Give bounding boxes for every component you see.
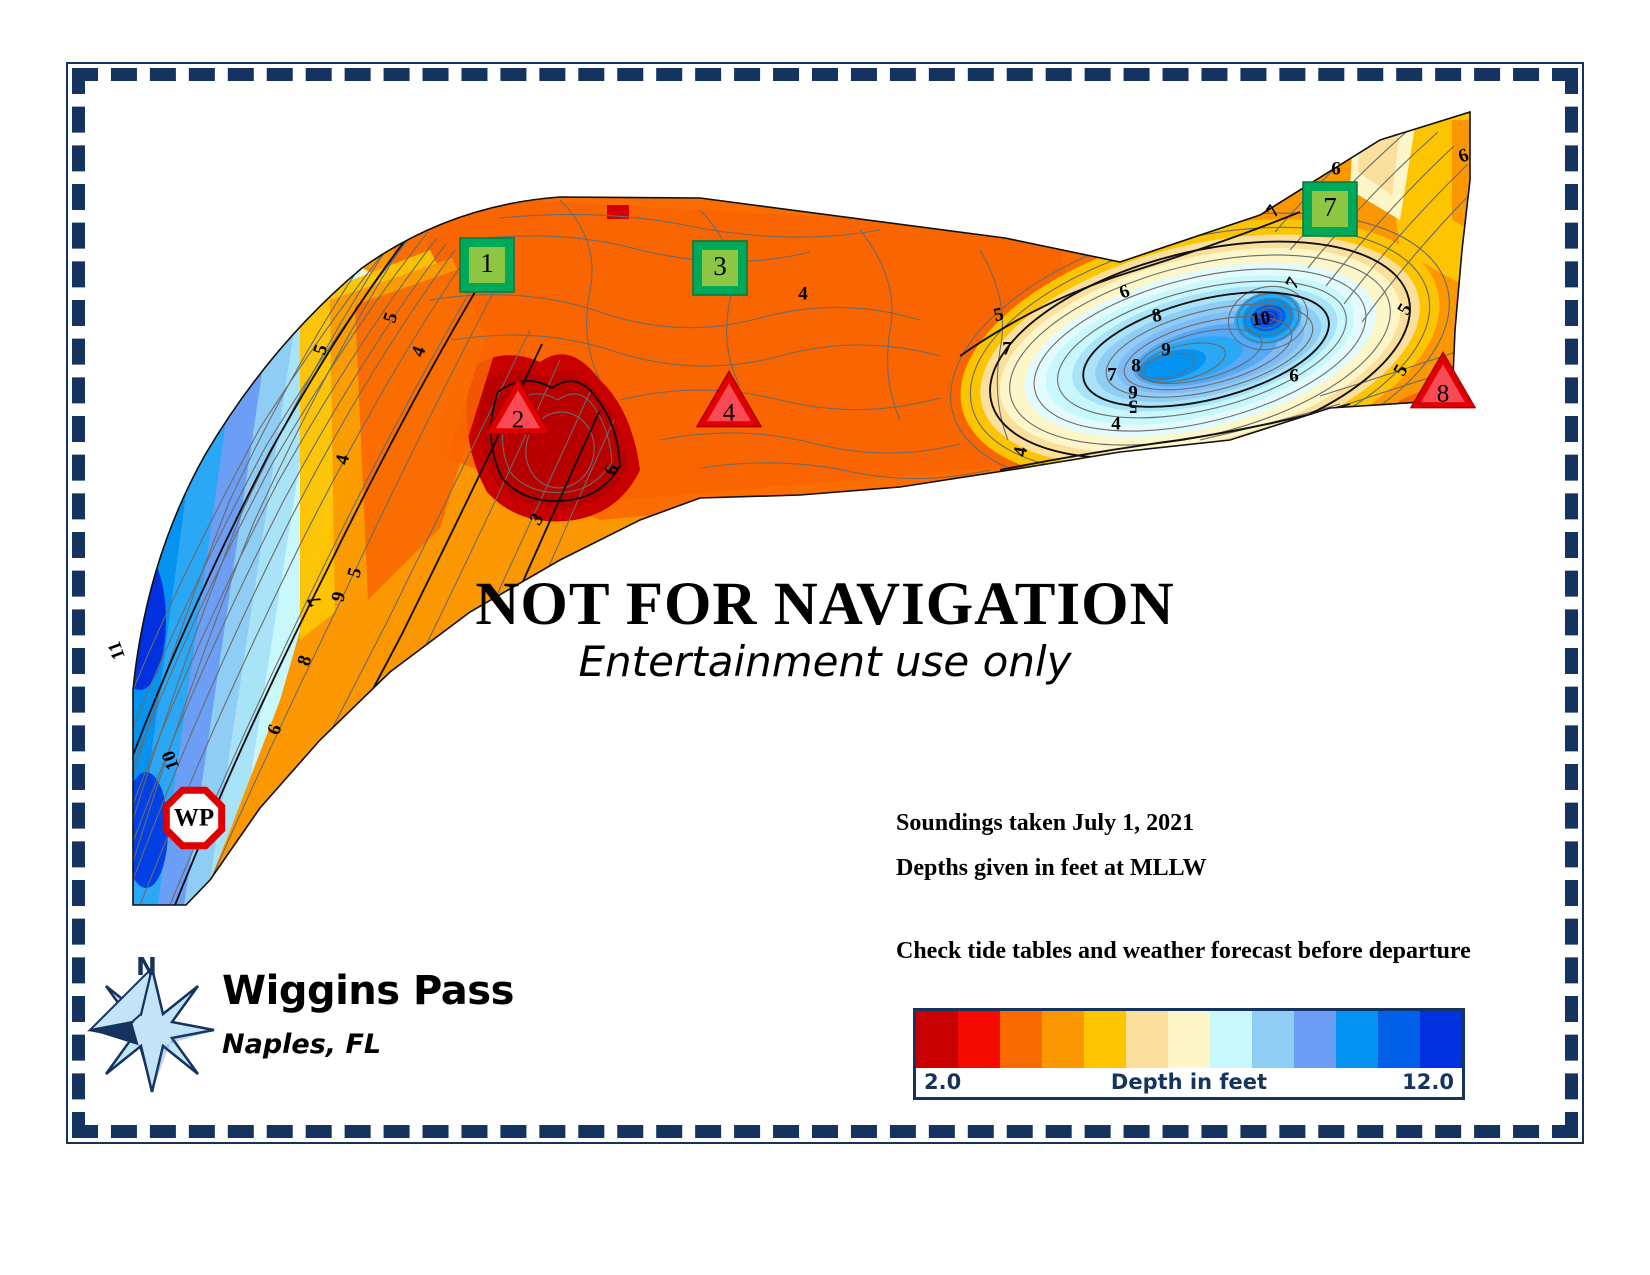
legend-swatch: [1126, 1011, 1168, 1068]
legend-swatch: [1042, 1011, 1084, 1068]
marker-label: 1: [480, 248, 494, 278]
contour-depth-label: 4: [1111, 413, 1121, 434]
legend-min-label: 2.0: [924, 1070, 961, 1094]
warning-subtitle: Entertainment use only: [0, 637, 1650, 686]
depth-color-legend: 2.0 Depth in feet 12.0: [913, 1008, 1465, 1100]
legend-title-label: Depth in feet: [1111, 1070, 1267, 1094]
contour-depth-label: 6: [1331, 158, 1341, 179]
contour-depth-label: 7: [1107, 364, 1117, 385]
note-depth-datum: Depths given in feet at MLLW: [896, 855, 1206, 882]
legend-swatch: [1420, 1011, 1462, 1068]
contour-depth-label: 6: [1289, 365, 1299, 386]
legend-swatch-strip: [916, 1011, 1462, 1068]
contour-depth-label: 10: [1250, 307, 1272, 330]
contour-depth-label: 7: [1002, 338, 1012, 359]
marker-label: 2: [512, 407, 525, 434]
contour-depth-label: 5: [1128, 396, 1138, 417]
note-advisory: Check tide tables and weather forecast b…: [896, 938, 1471, 965]
legend-swatch: [958, 1011, 1000, 1068]
compass-rose: [90, 968, 214, 1092]
legend-swatch: [1000, 1011, 1042, 1068]
warning-title: NOT FOR NAVIGATION: [0, 570, 1650, 640]
compass-north-label: N: [136, 952, 157, 981]
waypoint-label: WP: [174, 805, 214, 832]
page-subtitle: Naples, FL: [222, 1029, 381, 1060]
legend-swatch: [1252, 1011, 1294, 1068]
legend-swatch: [1168, 1011, 1210, 1068]
legend-swatch: [1336, 1011, 1378, 1068]
marker-label: 4: [723, 400, 736, 427]
marker-label: 3: [713, 251, 727, 281]
contour-depth-label: 8: [1131, 355, 1141, 376]
green-square-marker-3[interactable]: 3: [693, 241, 747, 295]
contour-depth-label: 9: [1161, 339, 1171, 360]
legend-swatch: [1210, 1011, 1252, 1068]
green-square-marker-7[interactable]: 7: [1303, 182, 1357, 236]
contour-depth-label: 4: [798, 283, 808, 304]
depth-bands: [32, 90, 1520, 960]
note-soundings-date: Soundings taken July 1, 2021: [896, 810, 1194, 837]
legend-swatch: [1084, 1011, 1126, 1068]
page-title: Wiggins Pass: [222, 968, 514, 1014]
marker-label: 8: [1437, 381, 1450, 408]
legend-labels: 2.0 Depth in feet 12.0: [916, 1068, 1462, 1097]
waypoint-marker[interactable]: WP: [166, 790, 221, 845]
legend-max-label: 12.0: [1402, 1070, 1454, 1094]
green-square-marker-1[interactable]: 1: [460, 238, 514, 292]
legend-swatch: [916, 1011, 958, 1068]
marker-label: 7: [1323, 192, 1337, 222]
legend-swatch: [1294, 1011, 1336, 1068]
legend-swatch: [1378, 1011, 1420, 1068]
